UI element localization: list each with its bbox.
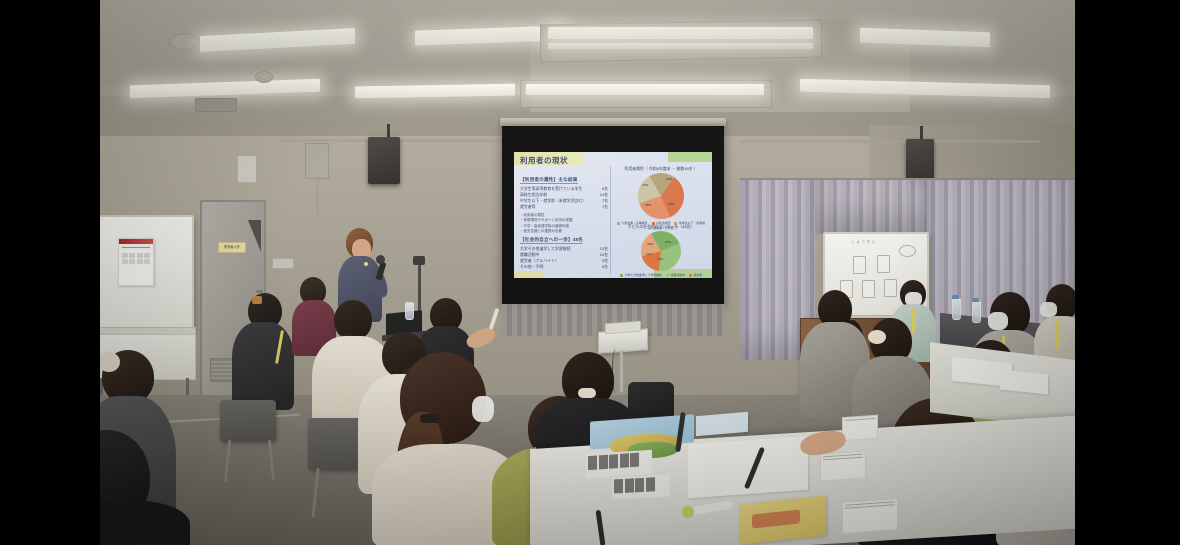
wall-speaker-left <box>368 137 400 184</box>
chart-2-legend: 大学その他進学して学習継続 就職活動中 就労者 その他 <box>614 273 708 278</box>
face-mask <box>988 312 1008 330</box>
whiteboard-circle-shape <box>899 245 916 257</box>
printed-handout-2 <box>612 474 670 499</box>
pie-1-label-0: 18% <box>642 183 648 187</box>
power-cable <box>612 348 623 394</box>
name-card-2 <box>842 498 898 534</box>
poster-cell <box>129 259 135 264</box>
pie-1-label-2: 26% <box>645 203 651 207</box>
wall-speaker-right <box>906 139 934 183</box>
hair-clip <box>252 296 262 304</box>
whiteboard-box <box>862 280 875 298</box>
whiteboard-poster <box>118 238 154 286</box>
projection-screen: 利用者の現状 【利用者の属性】主な結果 大学生等高等教育を受けている学生8名 高… <box>502 126 724 304</box>
bottle-cap-1 <box>952 295 959 299</box>
water-bottle-1 <box>952 298 961 320</box>
poster-header-bar <box>119 239 153 244</box>
handout-thumbnails <box>612 474 670 495</box>
slide-accent-bottom-left <box>514 271 544 278</box>
drawing-paper-large <box>688 436 808 498</box>
chart-2-caption: 子どもの社会的自立への一歩（48名） <box>614 224 708 230</box>
row-value: 7名 <box>602 204 608 210</box>
hair-scrunchie <box>578 388 596 398</box>
speaker-mount-right <box>920 126 923 140</box>
row-label: 就労者等 <box>520 204 536 210</box>
whiteboard-handwriting-label: し ゅ う か い <box>851 239 875 245</box>
poster-cell <box>129 253 135 258</box>
slide-bottom-row: その他・不明8名 <box>520 264 608 270</box>
name-card-1 <box>820 450 866 481</box>
slide-content: 利用者の現状 【利用者の属性】主な結果 大学生等高等教育を受けている学生8名 高… <box>514 152 712 278</box>
microphone-head <box>376 255 385 264</box>
handout-thumb <box>635 478 644 492</box>
row-label: その他・不明 <box>520 264 543 270</box>
wall-junction-box <box>305 143 329 179</box>
ceiling-light-5 <box>548 43 813 49</box>
slide-chart-2: 子どもの社会的自立への一歩（48名） 27% 33% 19% 21% 大学その他… <box>614 224 708 278</box>
screenshot-root: 利用者の現状 【利用者の属性】主な結果 大学生等高等教育を受けている学生8名 高… <box>0 0 1180 545</box>
pie-chart-2: 27% 33% 19% 21% <box>641 231 681 271</box>
face-mask <box>1040 302 1057 317</box>
poster-cell <box>144 259 150 264</box>
pie-1-label-1: 34% <box>666 177 672 181</box>
ceiling-skylight-frame-1 <box>540 20 822 63</box>
legend-item: 就職活動中 <box>666 273 685 277</box>
poster-grid <box>119 251 153 267</box>
ceiling-vent <box>195 98 237 112</box>
poster-cell <box>144 253 150 258</box>
slide-title: 利用者の現状 <box>520 155 568 166</box>
handout-thumb <box>646 477 655 491</box>
light-switch-plate[interactable] <box>272 258 294 269</box>
slide-left-heading: 【利用者の属性】主な結果 <box>520 177 578 184</box>
door-sign: 関係者以外 <box>218 242 246 253</box>
lanyard <box>912 308 915 334</box>
handout-thumb <box>630 453 639 468</box>
attendee-hair <box>334 300 372 340</box>
legend-label: 就労者 <box>693 273 702 277</box>
pie-2-label-0: 27% <box>665 240 671 244</box>
legend-item: 大学その他進学して学習継続 <box>620 273 662 277</box>
slide-chart-1: 利用者属性（ 令和6年度末 ・ 総数48名 ） 18% 34% 26% 22% … <box>614 166 708 230</box>
speaker-mount-left <box>387 124 390 138</box>
pie-2-label-1: 33% <box>647 242 653 246</box>
bottle-cap-2 <box>972 298 979 302</box>
lanyard <box>1056 320 1059 350</box>
printed-handout-1 <box>586 450 652 479</box>
door-sign-text: 関係者以外 <box>219 243 245 252</box>
handout-thumb <box>620 453 629 468</box>
hair-scrunchie <box>868 330 886 344</box>
row-value: 8名 <box>602 264 608 270</box>
legend-label: 大学その他進学して学習継続 <box>624 273 662 277</box>
poster-cell <box>122 253 128 258</box>
letterbox-bar-left <box>0 0 100 545</box>
letterbox-bar-right <box>1075 0 1180 545</box>
pie-chart-1: 18% 34% 26% 22% <box>638 173 684 219</box>
slide-column-divider <box>610 166 611 274</box>
slide-accent-top-right <box>668 152 712 162</box>
chart-1-caption: 利用者属性（ 令和6年度末 ・ 総数48名 ） <box>614 166 708 172</box>
pie-2-label-2: 19% <box>657 257 663 261</box>
ceiling-smoke-detector <box>170 33 198 50</box>
handout-thumb <box>625 478 634 492</box>
slide-bottom-section: 【社会的自立への一歩】48名 大学その他進学して学習継続13名 就職活動中16名… <box>520 228 608 270</box>
pie-2-label-3: 21% <box>646 252 652 256</box>
whiteboard-box <box>884 279 897 297</box>
ceiling-light-8 <box>526 84 764 95</box>
handout-thumb <box>588 456 597 471</box>
marker-tip <box>682 506 694 518</box>
pie-1-label-3: 22% <box>668 202 674 206</box>
wall-conduit-left <box>280 139 530 142</box>
curtain-top-section <box>815 180 927 234</box>
handout-thumb <box>609 454 618 469</box>
legend-label: 就職活動中 <box>670 273 684 277</box>
face-mask <box>472 396 494 422</box>
whiteboard-box <box>853 256 866 274</box>
card-text-line <box>823 457 863 461</box>
poster-cell <box>137 259 143 264</box>
poster-line <box>122 247 150 249</box>
legend-item: 就労者 <box>689 273 702 277</box>
hair-tie <box>420 414 440 423</box>
poster-cell <box>122 259 128 264</box>
handout-thumb <box>614 479 623 493</box>
card-text-line <box>845 418 875 421</box>
wall-conduit-right <box>740 140 1040 143</box>
wall-control-panel[interactable] <box>237 155 257 183</box>
poster-cell <box>137 253 143 258</box>
door-window <box>248 220 261 252</box>
whiteboard-box <box>877 255 890 273</box>
presenter-badge <box>364 262 368 266</box>
slide-left-column: 【利用者の属性】主な結果 大学生等高等教育を受けている学生8名 高校生相当年齢1… <box>520 168 608 234</box>
photo-frame: 利用者の現状 【利用者の属性】主な結果 大学生等高等教育を受けている学生8名 高… <box>100 0 1075 545</box>
stand-camera <box>413 256 425 265</box>
water-bottle-2 <box>972 301 981 323</box>
wall-pipe-drop <box>316 176 319 216</box>
attendee-jacket <box>232 322 294 410</box>
slide-left-row: 就労者等7名 <box>520 204 608 210</box>
ceiling-sprinkler <box>255 71 273 83</box>
ceiling-light-4 <box>548 27 813 39</box>
handout-thumbnails <box>586 450 652 473</box>
chair[interactable] <box>220 400 276 442</box>
slide-bottom-heading: 【社会的自立への一歩】48名 <box>520 237 583 244</box>
name-card-3 <box>842 415 878 442</box>
handout-thumb <box>599 455 608 470</box>
presenter-table-bottle <box>405 302 414 320</box>
